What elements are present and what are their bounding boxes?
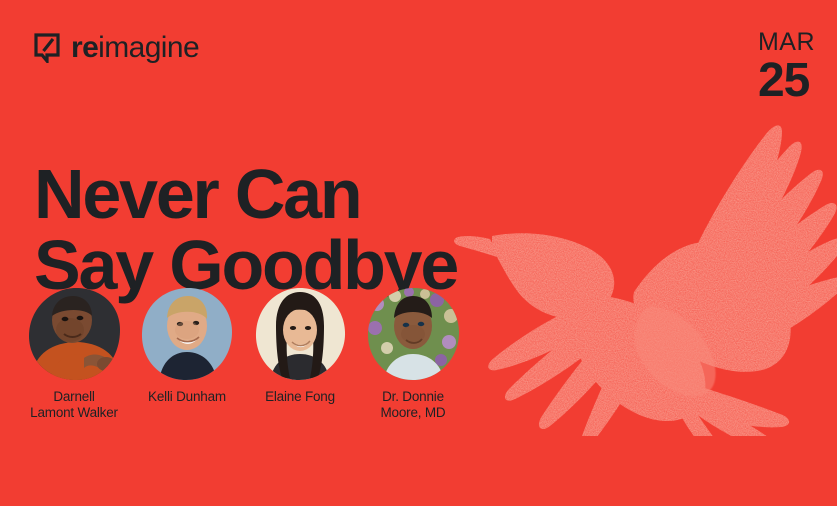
speaker-card: Elaine Fong [252,286,348,421]
speaker-name: Darnell Lamont Walker [30,389,118,421]
event-date: MAR 25 [758,30,815,105]
speaker-card[interactable]: Kelli Dunham [139,286,235,421]
event-date-month: MAR [758,30,815,55]
brand-wordmark: reimagine [71,33,199,63]
brand-logo[interactable]: reimagine [34,33,199,63]
event-date-day: 25 [758,57,815,105]
speech-bubble-logo-icon [34,33,60,63]
page-title: Never Can Say Goodbye [34,159,457,302]
brand-wordmark-light: imagine [98,31,199,64]
headline-line-1: Never Can [34,159,457,230]
avatar [365,286,461,382]
speaker-card[interactable]: Darnell Lamont Walker [26,286,122,421]
speaker-name: Elaine Fong [265,389,335,405]
brand-wordmark-bold: re [71,31,98,64]
event-poster: reimagine MAR 25 Never Can Say Goodbye [0,0,837,506]
avatar [26,286,122,382]
speaker-list: Darnell Lamont Walker [26,286,461,421]
speaker-name: Kelli Dunham [148,389,226,405]
speaker-name: Dr. Donnie Moore, MD [381,389,446,421]
avatar [139,286,235,382]
avatar [252,286,348,382]
speaker-card[interactable]: Dr. Donnie Moore, MD [365,286,461,421]
flying-bird-illustration [452,96,837,436]
